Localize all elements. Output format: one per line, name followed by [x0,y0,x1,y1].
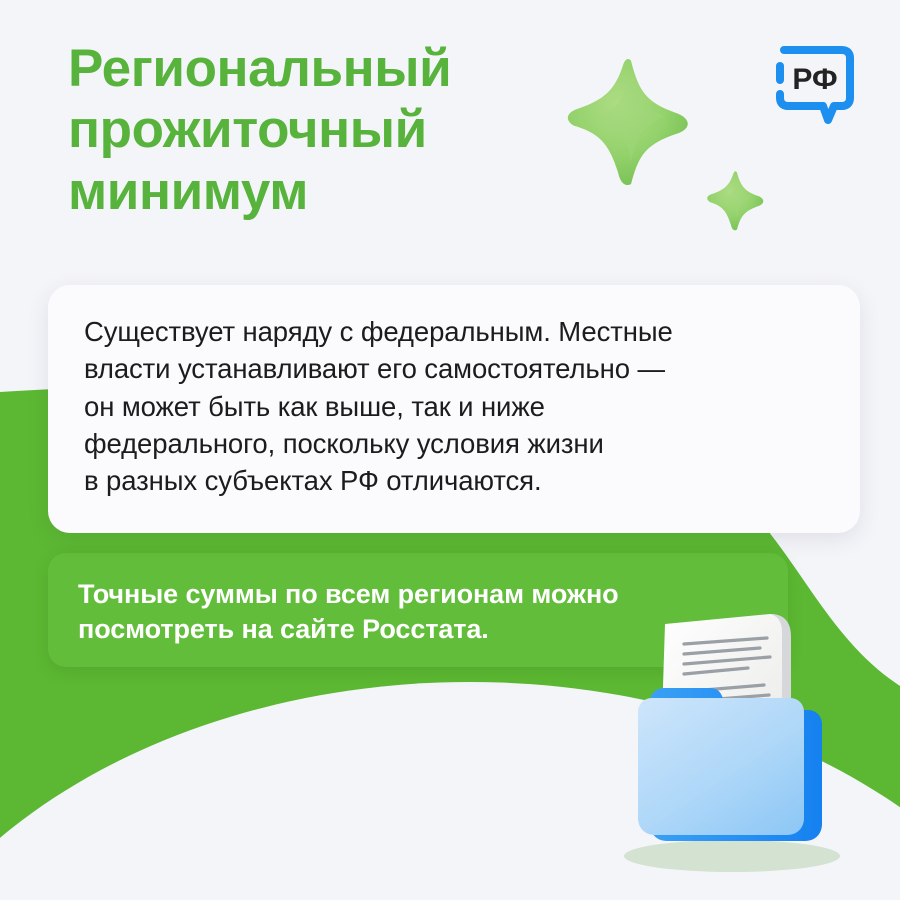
infographic-poster: Региональный прожиточный минимум [0,0,900,900]
green-star-large-icon [566,58,696,188]
folder-front-panel [638,698,804,835]
info-card: Существует наряду с федеральным. Местные… [48,285,860,533]
info-card-body: Существует наряду с федеральным. Местные… [84,313,824,499]
blue-folder-with-document-icon [612,606,862,874]
obyasnyaem-rf-logo[interactable]: РФ [772,40,858,132]
page-title: Региональный прожиточный минимум [68,38,588,222]
logo-text: РФ [792,63,837,96]
green-star-small-icon [706,170,768,232]
